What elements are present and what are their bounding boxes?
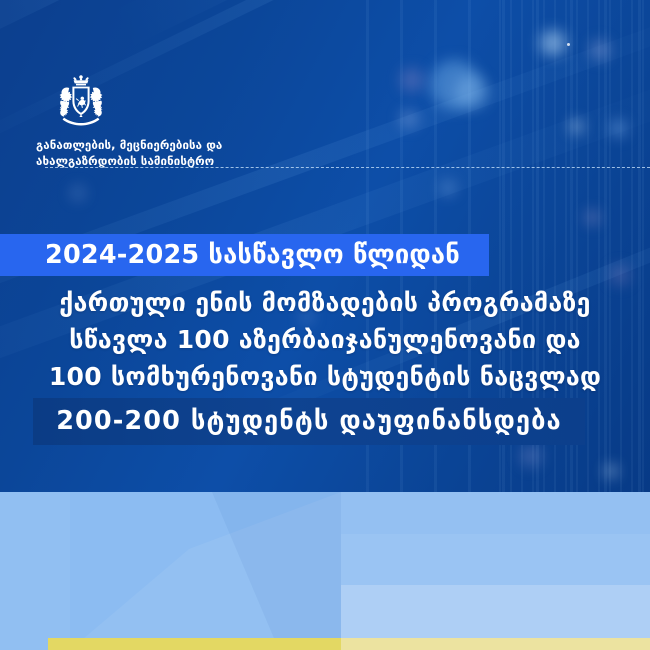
- bottom-decorative-panel: [0, 492, 650, 650]
- sparkle-dot: [567, 43, 570, 46]
- bokeh-orb: [585, 210, 600, 225]
- geometric-facet: [0, 492, 70, 650]
- funding-statement: 200-200 სტუდენტს დაუფინანსდება: [33, 398, 585, 445]
- bokeh-orb: [430, 60, 480, 110]
- geometric-facet: [341, 492, 650, 534]
- announcement-line-2: სწავლა 100 აზერბაიჯანულენოვანი და: [0, 325, 650, 354]
- bokeh-orb: [540, 30, 566, 56]
- bokeh-orb: [70, 185, 86, 201]
- geometric-facet: [212, 492, 341, 638]
- bokeh-orb: [590, 40, 610, 60]
- announcement-line-3: 100 სომხურენოვანი სტუდენტის ნაცვლად: [0, 362, 650, 391]
- bokeh-orb: [400, 110, 418, 128]
- ministry-logo-block: განათლების, მეცნიერებისა და ახალგაზრდობი…: [36, 74, 296, 170]
- bokeh-orb: [520, 445, 542, 467]
- bokeh-orb: [455, 75, 489, 109]
- diagonal-light-streak: [111, 0, 650, 48]
- poster-canvas: განათლების, მეცნიერებისა და ახალგაზრდობი…: [0, 0, 650, 650]
- accent-bar-left: [48, 638, 341, 650]
- bokeh-orb: [440, 180, 456, 196]
- bokeh-orb: [570, 120, 583, 133]
- bokeh-orb: [610, 120, 627, 137]
- geometric-facet: [341, 492, 650, 650]
- accent-bar-right: [341, 638, 650, 650]
- geometric-facet: [70, 492, 341, 650]
- diagonal-light-streak: [0, 0, 650, 85]
- bokeh-orb: [605, 465, 617, 477]
- bokeh-orb: [610, 265, 630, 285]
- school-year-label: 2024-2025 სასწავლო წლიდან: [45, 237, 505, 273]
- announcement-line-1: ქართული ენის მომზადების პროგრამაზე: [0, 288, 650, 317]
- georgian-coat-of-arms-icon: [42, 74, 296, 130]
- ministry-name-text: განათლების, მეცნიერებისა და ახალგაზრდობი…: [36, 137, 296, 170]
- bokeh-orb: [400, 68, 424, 92]
